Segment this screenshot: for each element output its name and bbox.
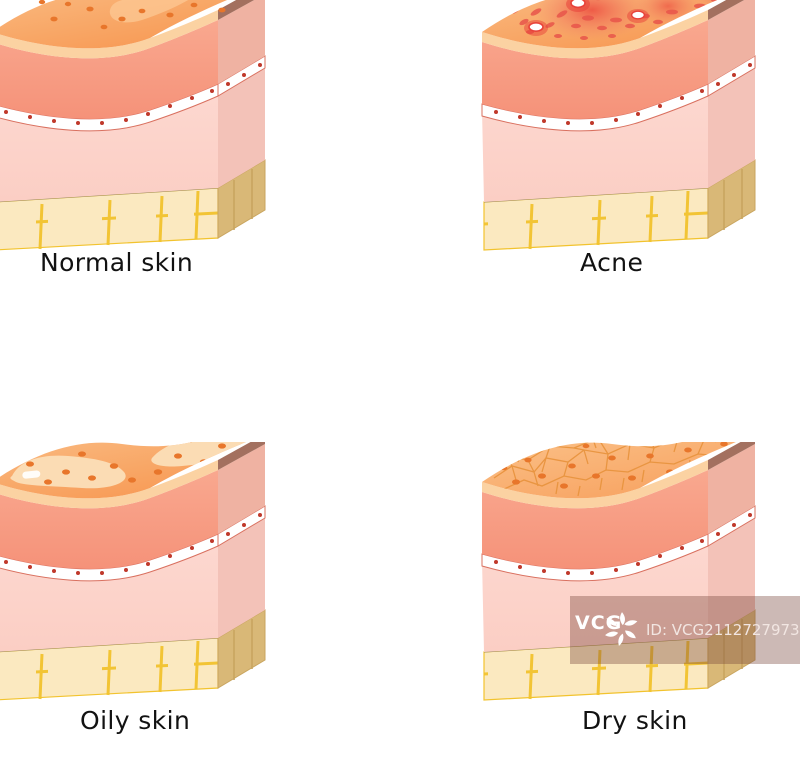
panel-acne: Acne xyxy=(472,0,800,322)
skin-block-normal xyxy=(0,0,272,260)
skin-block-oily xyxy=(0,442,272,710)
caption-normal-skin: Normal skin xyxy=(40,248,193,277)
panel-normal-skin: Normal skin xyxy=(0,0,312,322)
panel-oily-skin: Oily skin xyxy=(0,442,312,772)
skin-block-dry xyxy=(472,442,762,710)
caption-oily-skin: Oily skin xyxy=(80,706,190,735)
caption-acne: Acne xyxy=(580,248,643,277)
skin-block-acne xyxy=(472,0,762,260)
illustration-canvas: Normal skin xyxy=(0,0,800,758)
caption-dry-skin: Dry skin xyxy=(582,706,688,735)
panel-dry-skin: Dry skin xyxy=(472,442,800,772)
